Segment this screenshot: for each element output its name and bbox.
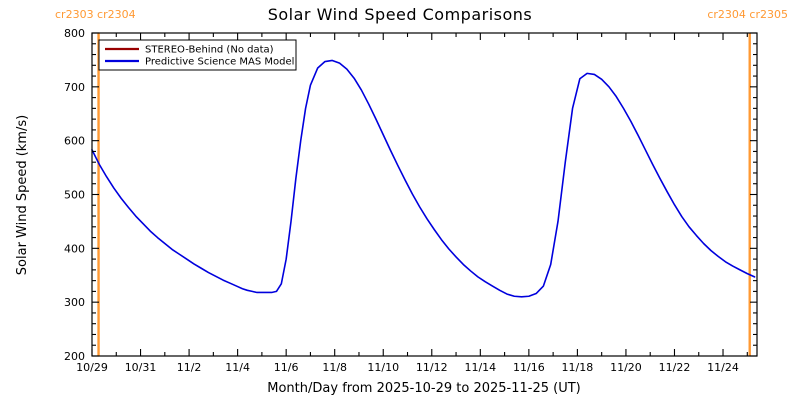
x-tick-label: 11/2: [177, 361, 202, 374]
x-tick-label: 11/6: [274, 361, 299, 374]
y-tick-label: 300: [64, 296, 85, 309]
y-tick-labels: 200300400500600700800: [64, 27, 85, 363]
x-tick-label: 11/18: [562, 361, 594, 374]
x-tick-label: 11/20: [610, 361, 642, 374]
y-axis-title: Solar Wind Speed (km/s): [15, 115, 30, 275]
y-tick-label: 600: [64, 135, 85, 148]
y-tick-label: 800: [64, 27, 85, 40]
x-tick-label: 11/24: [707, 361, 739, 374]
solar-wind-plot: 10/2910/3111/211/411/611/811/1011/1211/1…: [0, 0, 800, 400]
y-tick-label: 200: [64, 350, 85, 363]
x-tick-label: 11/10: [367, 361, 399, 374]
legend-label-mas-model: Predictive Science MAS Model: [145, 57, 294, 68]
y-tick-label: 700: [64, 81, 85, 94]
x-tick-label: 11/8: [322, 361, 347, 374]
x-tick-label: 11/4: [225, 361, 250, 374]
x-tick-label: 11/22: [659, 361, 691, 374]
x-tick-label: 10/31: [125, 361, 157, 374]
x-tick-label: 11/16: [513, 361, 545, 374]
x-axis-title: Month/Day from 2025-10-29 to 2025-11-25 …: [267, 381, 580, 396]
x-tick-label: 11/14: [464, 361, 496, 374]
chart-figure: cr2303 cr2304 cr2304 cr2305 Solar Wind S…: [0, 0, 800, 400]
x-tick-labels: 10/2910/3111/211/411/611/811/1011/1211/1…: [76, 361, 739, 374]
y-tick-label: 400: [64, 242, 85, 255]
plot-area-background: [92, 33, 757, 356]
legend-label-stereo-behind: STEREO-Behind (No data): [145, 45, 274, 56]
y-tick-label: 500: [64, 189, 85, 202]
x-tick-label: 11/12: [416, 361, 448, 374]
chart-legend: STEREO-Behind (No data) Predictive Scien…: [99, 40, 296, 70]
